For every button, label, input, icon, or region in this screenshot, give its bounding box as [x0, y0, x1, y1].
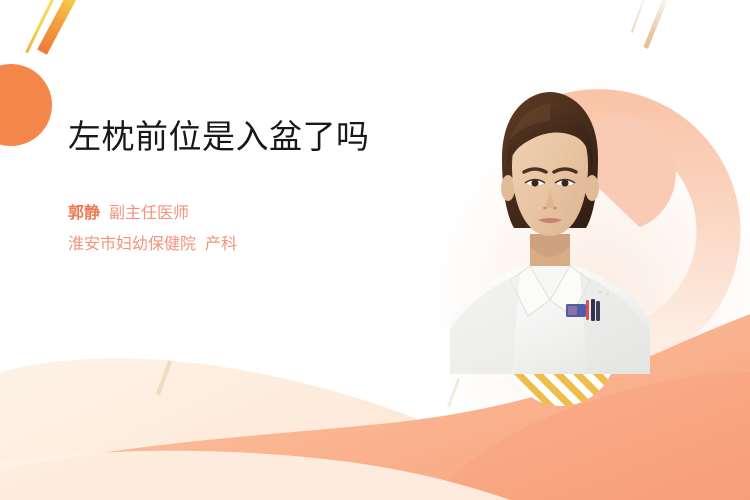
- doctor-portrait-image: [450, 84, 650, 374]
- doctor-portrait-container: [450, 84, 650, 384]
- doctor-name: 郭静: [68, 205, 100, 222]
- portrait-dark-pen-b: [596, 301, 600, 321]
- portrait-bust-group: [450, 264, 650, 374]
- portrait-nostril-right: [553, 207, 557, 210]
- portrait-coat-button-a: [599, 291, 602, 294]
- portrait-nostril-left: [543, 207, 547, 210]
- doctor-name-line: 郭静副主任医师: [68, 199, 428, 229]
- page-title: 左枕前位是入盆了吗: [68, 116, 428, 157]
- doctor-title: 副主任医师: [109, 205, 189, 222]
- doctor-hospital: 淮安市妇幼保健院: [68, 236, 196, 253]
- portrait-coat-button-b: [607, 293, 610, 296]
- doctor-meta: 郭静副主任医师 淮安市妇幼保健院产科: [68, 199, 428, 260]
- doctor-question-card: 左枕前位是入盆了吗 郭静副主任医师 淮安市妇幼保健院产科: [0, 0, 750, 500]
- portrait-dark-pen-a: [591, 299, 595, 321]
- doctor-affiliation-line: 淮安市妇幼保健院产科: [68, 230, 428, 260]
- portrait-red-pen: [586, 300, 589, 320]
- doctor-department: 产科: [205, 236, 237, 253]
- portrait-badge-photo: [568, 306, 577, 315]
- text-block: 左枕前位是入盆了吗 郭静副主任医师 淮安市妇幼保健院产科: [68, 116, 428, 260]
